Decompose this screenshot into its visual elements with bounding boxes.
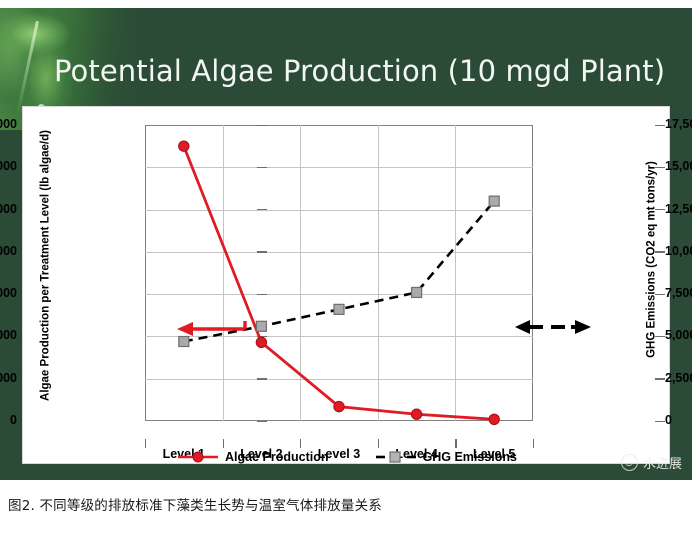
screenshot-root: Potential Algae Production (10 mgd Plant… bbox=[0, 0, 692, 533]
data-point-ghg-emissions-4[interactable] bbox=[412, 287, 422, 297]
y-axis-left-tick-label: 25,000 bbox=[0, 202, 17, 216]
left-axis-pointer-arrow bbox=[175, 318, 247, 340]
y-axis-left-tick-label: 15,000 bbox=[0, 286, 17, 300]
y-axis-left-tick-label: 35,000 bbox=[0, 117, 17, 131]
legend-marker-line-circle bbox=[177, 450, 219, 464]
legend-label-algae-production: Algae Production bbox=[225, 450, 328, 464]
y-axis-right-tick-label: 2,500 bbox=[665, 371, 692, 385]
y-axis-right-tick-label: 15,000 bbox=[665, 159, 692, 173]
chart-series-layer bbox=[145, 125, 533, 421]
y-axis-left-title: Algae Production per Treatment Level (lb… bbox=[40, 126, 53, 406]
legend-item-ghg-emissions[interactable]: GHG Emissions bbox=[375, 450, 517, 464]
data-point-algae-production-2[interactable] bbox=[256, 337, 266, 347]
y-axis-right-title: GHG Emissions (CO2 eq mt tons/yr) bbox=[646, 115, 659, 405]
data-point-algae-production-4[interactable] bbox=[411, 409, 421, 419]
plot-area: 05,00010,00015,00020,00025,00030,00035,0… bbox=[145, 125, 533, 421]
leaf-vein bbox=[16, 21, 39, 116]
y-axis-right-tickmark bbox=[655, 421, 665, 422]
data-point-ghg-emissions-3[interactable] bbox=[334, 304, 344, 314]
y-axis-left-tick-label: 0 bbox=[0, 413, 17, 427]
y-axis-left-tick-label: 10,000 bbox=[0, 328, 17, 342]
data-point-algae-production-5[interactable] bbox=[489, 414, 499, 424]
y-axis-right-tick-label: 10,000 bbox=[665, 244, 692, 258]
data-point-ghg-emissions-2[interactable] bbox=[256, 321, 266, 331]
y-axis-left-tick-label: 30,000 bbox=[0, 159, 17, 173]
watermark-text: 水进展 bbox=[643, 453, 682, 472]
water-logo-icon bbox=[621, 454, 638, 471]
watermark: 水进展 bbox=[621, 453, 682, 472]
y-axis-right-tickmark bbox=[655, 167, 665, 168]
chart-container: Algae Production per Treatment Level (lb… bbox=[22, 106, 670, 464]
y-axis-right-tick-label: 17,500 bbox=[665, 117, 692, 131]
right-axis-pointer-arrow bbox=[513, 315, 593, 339]
y-axis-right-tickmark bbox=[655, 209, 665, 210]
data-point-ghg-emissions-5[interactable] bbox=[489, 196, 499, 206]
chart-legend: Algae Production GHG Emissions bbox=[23, 447, 671, 467]
data-point-algae-production-3[interactable] bbox=[334, 401, 344, 411]
series-line-algae-production bbox=[184, 146, 494, 419]
y-axis-right-tickmark bbox=[655, 251, 665, 252]
y-axis-right-tickmark bbox=[655, 125, 665, 126]
y-axis-right-tick-label: 12,500 bbox=[665, 202, 692, 216]
y-axis-left-tick-label: 20,000 bbox=[0, 244, 17, 258]
y-axis-right-tick-label: 7,500 bbox=[665, 286, 692, 300]
y-axis-right-tick-label: 0 bbox=[665, 413, 692, 427]
data-point-algae-production-1[interactable] bbox=[179, 141, 189, 151]
y-axis-right-tick-label: 5,000 bbox=[665, 328, 692, 342]
y-axis-left-tick-label: 5,000 bbox=[0, 371, 17, 385]
page-title: Potential Algae Production (10 mgd Plant… bbox=[54, 48, 674, 94]
legend-label-ghg-emissions: GHG Emissions bbox=[423, 450, 517, 464]
y-axis-right-tickmark bbox=[655, 294, 665, 295]
y-axis-right-tickmark bbox=[655, 378, 665, 379]
figure-caption: 图2. 不同等级的排放标准下藻类生长势与温室气体排放量关系 bbox=[8, 494, 668, 514]
presentation-slide: Potential Algae Production (10 mgd Plant… bbox=[0, 8, 692, 480]
legend-marker-dashed-square bbox=[375, 450, 417, 464]
legend-item-algae-production[interactable]: Algae Production bbox=[177, 450, 328, 464]
y-axis-right-tickmark bbox=[655, 336, 665, 337]
